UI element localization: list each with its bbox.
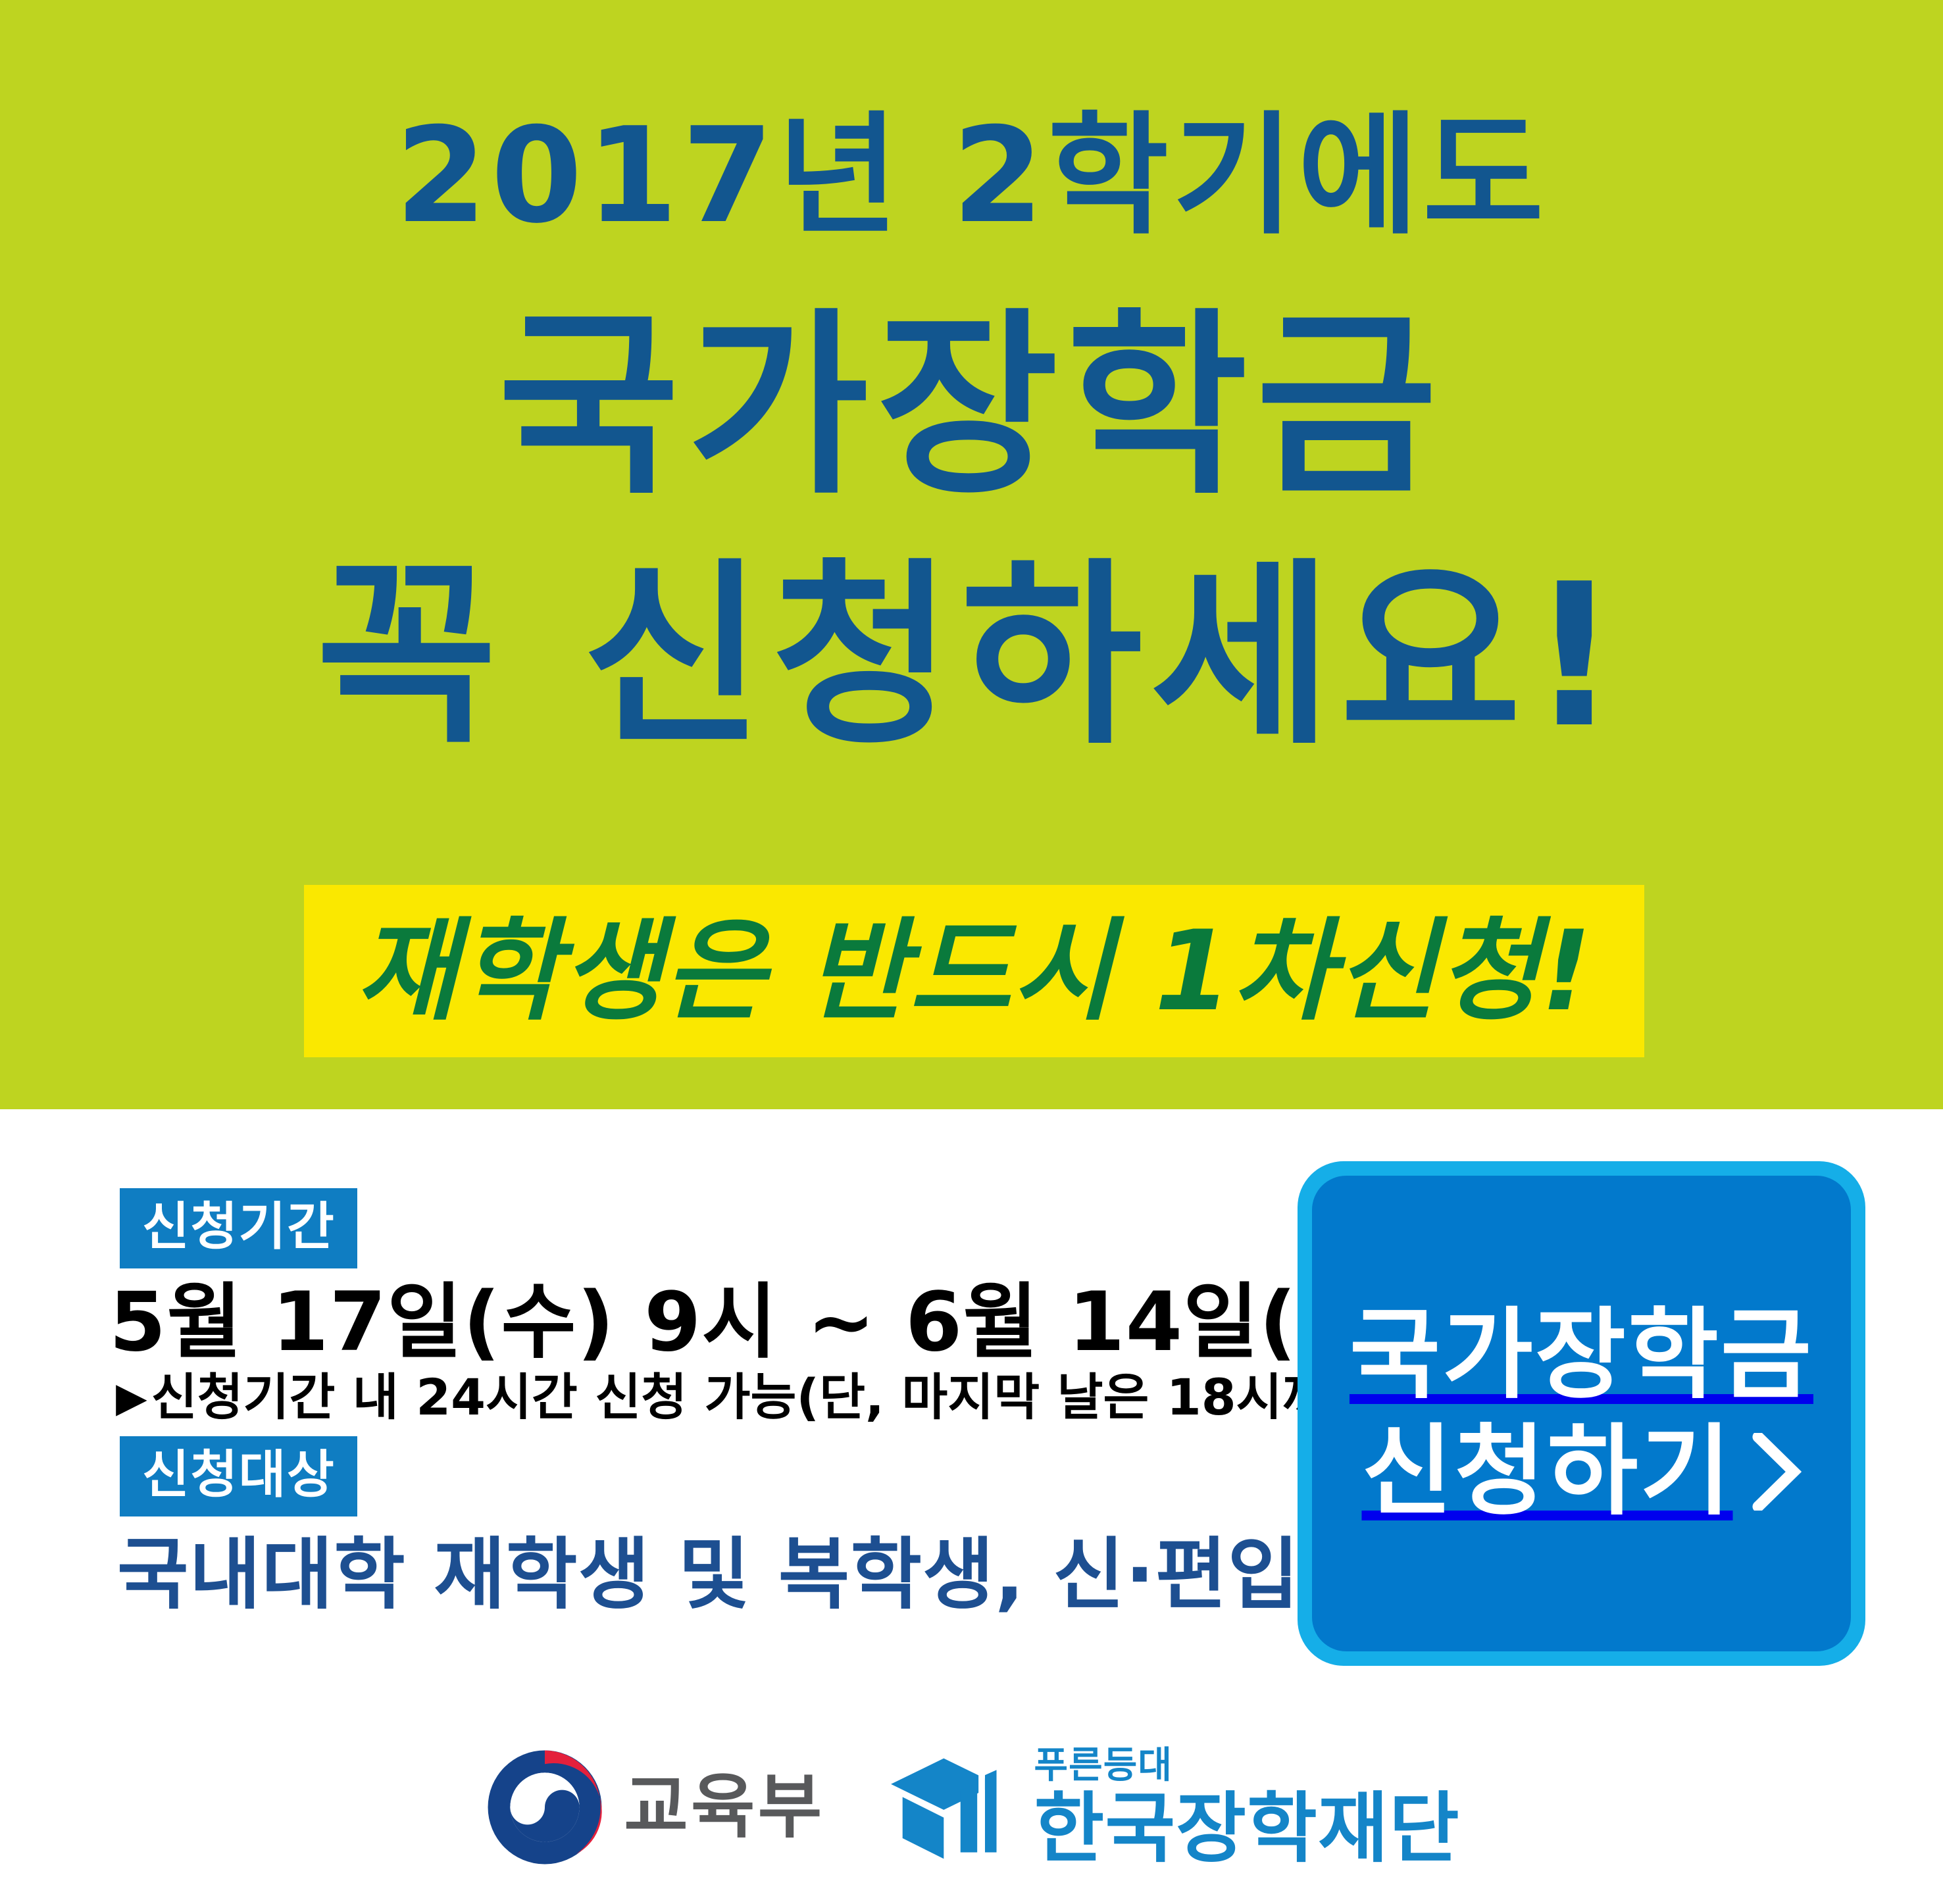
hero-highlight-text: 재학생은 반드시 1차신청! — [356, 916, 1593, 1026]
apply-scholarship-button-inner: 국가장학금 신청하기 — [1312, 1176, 1851, 1651]
graduation-cap-lighthouse-icon — [888, 1748, 1017, 1866]
hero-eyebrow: 2017년 2학기에도 — [0, 111, 1943, 242]
kosaf-wordmark-block: 푸른등대 한국장학재단 — [1034, 1747, 1460, 1867]
kosaf-logo: 푸른등대 한국장학재단 — [888, 1747, 1460, 1867]
apply-button-line-1: 국가장학금 — [1350, 1297, 1813, 1414]
korea-government-taegeuk-emblem-icon — [483, 1745, 607, 1869]
kosaf-name: 한국장학재단 — [1034, 1791, 1460, 1867]
scholarship-promo-banner: 2017년 2학기에도 국가장학금 꼭 신청하세요! 재학생은 반드시 1차신청… — [0, 0, 1943, 1904]
ministry-of-education-logo: 교육부 — [483, 1745, 824, 1869]
apply-button-line-2-row: 신청하기 — [1361, 1414, 1801, 1530]
apply-scholarship-button[interactable]: 국가장학금 신청하기 — [1298, 1161, 1865, 1666]
application-target-badge: 신청대상 — [120, 1436, 357, 1516]
kosaf-sub-label: 푸른등대 — [1034, 1747, 1460, 1784]
apply-button-line-2: 신청하기 — [1361, 1414, 1732, 1530]
application-period-badge: 신청기간 — [120, 1188, 357, 1268]
application-period-note: ▶ 신청기간 내 24시간 신청 가능(단, 마지막 날은 18시까지) — [116, 1372, 1397, 1422]
footer-logo-strip: 교육부 푸른등대 한국장학재단 — [0, 1711, 1943, 1904]
ministry-of-education-wordmark: 교육부 — [624, 1772, 824, 1842]
application-target-value: 국내대학 재학생 및 복학생, 신·편입학생 — [117, 1536, 1444, 1613]
triangle-bullet-icon: ▶ — [116, 1377, 147, 1418]
application-period-note-text: 신청기간 내 24시간 신청 가능(단, 마지막 날은 18시까지) — [151, 1372, 1397, 1422]
hero-title-line-1: 국가장학금 — [0, 308, 1943, 505]
hero-section: 2017년 2학기에도 국가장학금 꼭 신청하세요! 재학생은 반드시 1차신청… — [0, 0, 1943, 1109]
hero-highlight-band: 재학생은 반드시 1차신청! — [304, 885, 1644, 1057]
chevron-right-icon — [1750, 1433, 1802, 1511]
hero-title-line-2: 꼭 신청하세요! — [0, 558, 1943, 755]
